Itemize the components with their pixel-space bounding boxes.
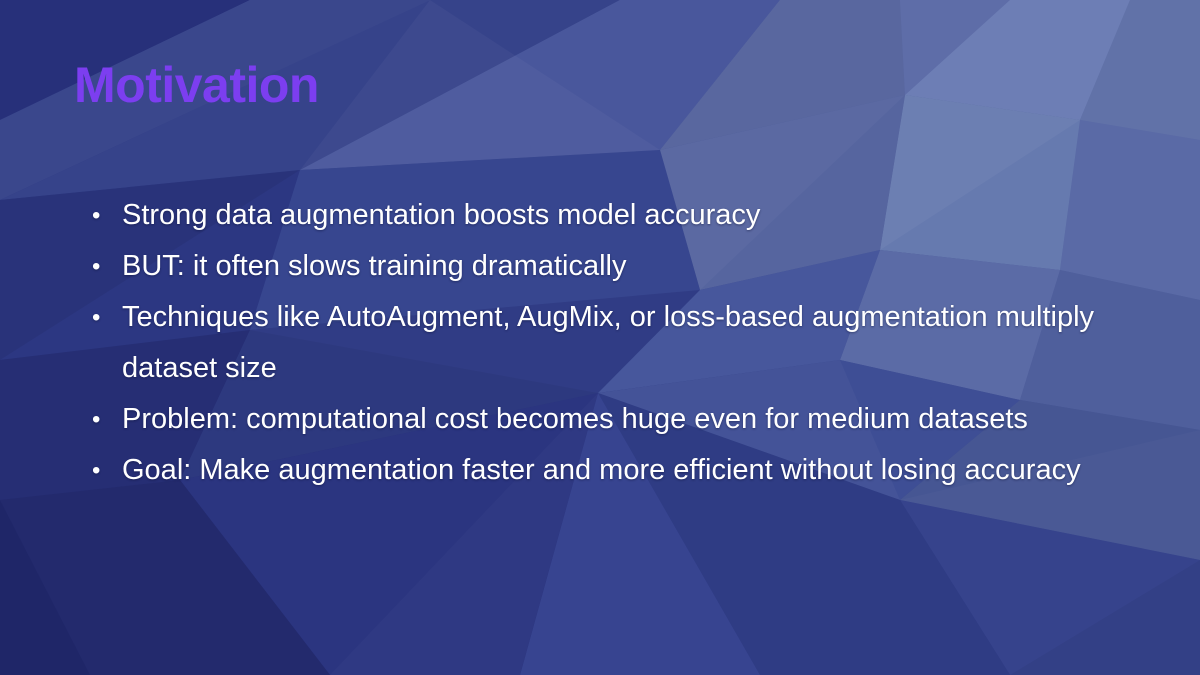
bullet-dot-icon: • xyxy=(92,241,122,292)
bullet-item: • Problem: computational cost becomes hu… xyxy=(92,394,1142,445)
bullet-dot-icon: • xyxy=(92,445,122,496)
bullet-dot-icon: • xyxy=(92,190,122,241)
bullet-text: Goal: Make augmentation faster and more … xyxy=(122,445,1132,496)
bullet-item: • Goal: Make augmentation faster and mor… xyxy=(92,445,1142,496)
bullet-dot-icon: • xyxy=(92,292,122,343)
bullet-item: • BUT: it often slows training dramatica… xyxy=(92,241,1142,292)
bullet-item: • Techniques like AutoAugment, AugMix, o… xyxy=(92,292,1142,394)
bullet-text: Techniques like AutoAugment, AugMix, or … xyxy=(122,292,1132,394)
bullet-list: • Strong data augmentation boosts model … xyxy=(92,190,1142,496)
bullet-dot-icon: • xyxy=(92,394,122,445)
bullet-text: BUT: it often slows training dramaticall… xyxy=(122,241,1132,292)
bullet-item: • Strong data augmentation boosts model … xyxy=(92,190,1142,241)
bullet-text: Strong data augmentation boosts model ac… xyxy=(122,190,1132,241)
slide-content: Motivation • Strong data augmentation bo… xyxy=(0,0,1200,675)
bullet-text: Problem: computational cost becomes huge… xyxy=(122,394,1132,445)
presentation-slide: Motivation • Strong data augmentation bo… xyxy=(0,0,1200,675)
slide-title: Motivation xyxy=(74,58,319,113)
